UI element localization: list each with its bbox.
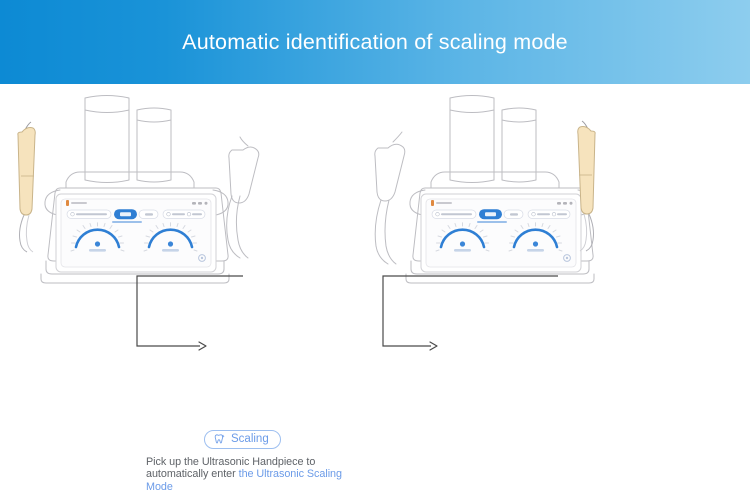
screen-mode-sublabel-right bbox=[477, 221, 507, 223]
ultrasonic-handpiece-left bbox=[18, 122, 35, 252]
screen-status-icons-right bbox=[557, 202, 573, 205]
device-svg-right bbox=[375, 84, 750, 294]
panel-ultrasonic-scaling: Scaling Pick up the Ultrasonic Handpiece… bbox=[0, 84, 375, 409]
caption-ultrasonic: Pick up the Ultrasonic Handpiece to auto… bbox=[146, 456, 361, 493]
air-polishing-handpiece-left bbox=[227, 137, 259, 258]
tooth-sparkle-icon bbox=[213, 433, 226, 446]
mode-pill-scaling[interactable]: Scaling bbox=[204, 430, 281, 449]
page-header: Automatic identification of scaling mode bbox=[0, 0, 750, 84]
device-illustration-left bbox=[0, 84, 375, 294]
device-screen-left bbox=[61, 199, 211, 267]
screen-mode-sublabel-left bbox=[112, 221, 142, 223]
device-illustration-right bbox=[375, 84, 750, 294]
mode-pill-label: Scaling bbox=[231, 434, 269, 446]
air-polishing-handpiece-right bbox=[375, 132, 405, 264]
panel-air-polishing: Air Polishing Pick up the Air Polishing … bbox=[375, 84, 750, 409]
page-title: Automatic identification of scaling mode bbox=[182, 30, 568, 55]
screen-status-icons-left bbox=[192, 202, 208, 205]
device-svg-left bbox=[0, 84, 375, 294]
device-screen-right bbox=[426, 199, 576, 267]
